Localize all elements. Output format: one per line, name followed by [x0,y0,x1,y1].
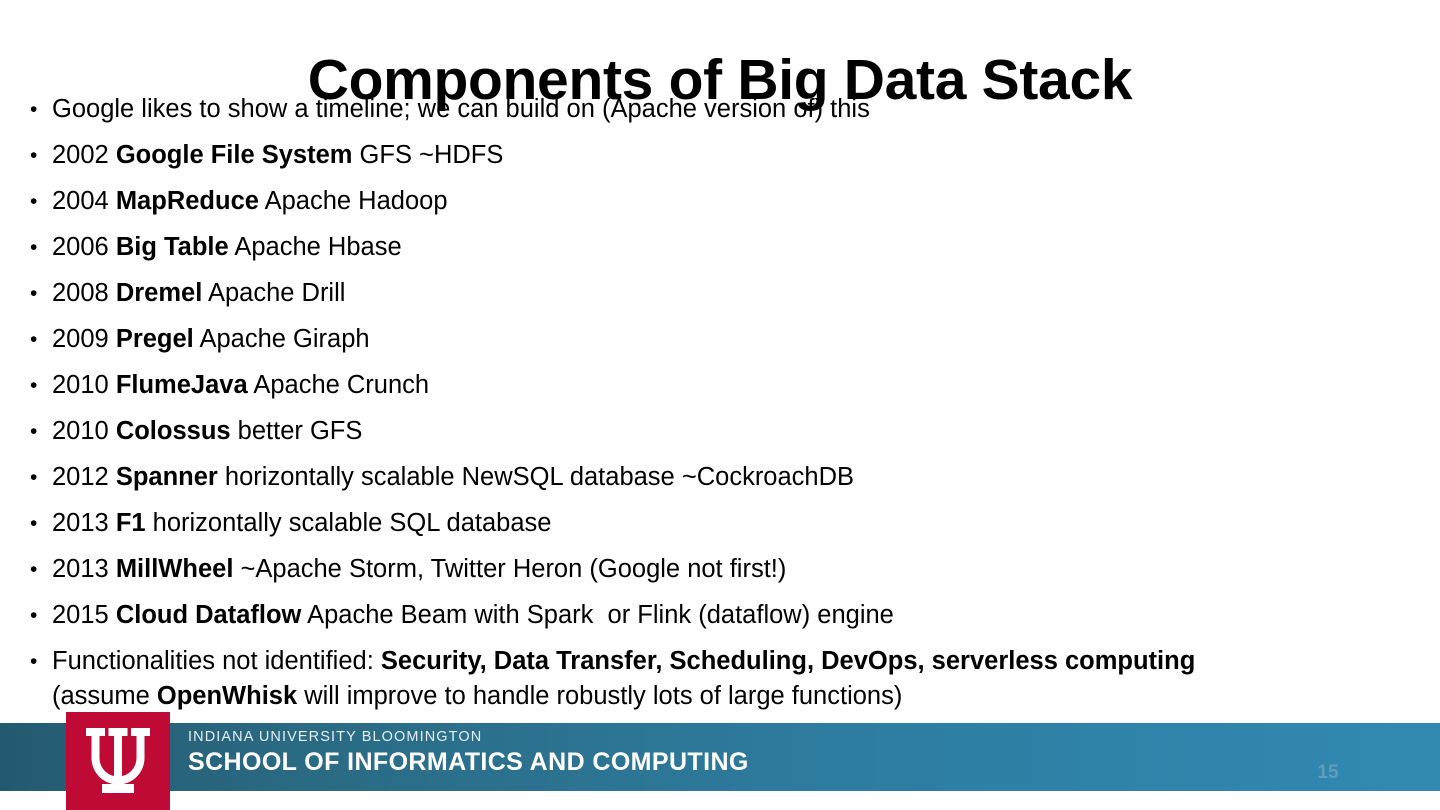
slide-canvas: Components of Big Data Stack Google like… [0,0,1440,810]
list-item: 2013 MillWheel ~Apache Storm, Twitter He… [26,552,1422,587]
bullet-text: Apache Crunch [248,371,429,399]
bullet-text: GFS ~HDFS [352,141,503,169]
list-item: 2004 MapReduce Apache Hadoop [26,184,1422,219]
bullet-text: 2013 [52,555,116,583]
bullet-text: 2009 [52,325,116,353]
bullet-emphasis: F1 [116,509,146,537]
footer-branding: INDIANA UNIVERSITY BLOOMINGTON SCHOOL OF… [188,728,1088,778]
bullet-emphasis: OpenWhisk [157,682,297,710]
list-item: 2013 F1 horizontally scalable SQL databa… [26,506,1422,541]
list-item: 2012 Spanner horizontally scalable NewSQ… [26,460,1422,495]
bullet-emphasis: Security, Data Transfer, Scheduling, Dev… [381,647,1195,675]
list-item: 2010 Colossus better GFS [26,414,1422,449]
bullet-emphasis: Google File System [116,141,353,169]
list-item: 2009 Pregel Apache Giraph [26,322,1422,357]
bullet-emphasis: MillWheel [116,555,234,583]
bullet-text: Functionalities not identified: [52,647,381,675]
bullet-text: (assume [52,682,157,710]
list-item: 2002 Google File System GFS ~HDFS [26,138,1422,173]
footer-university-name: INDIANA UNIVERSITY BLOOMINGTON [188,728,1088,747]
bullet-text: 2002 [52,141,116,169]
bullet-emphasis: Colossus [116,417,231,445]
list-item: 2015 Cloud Dataflow Apache Beam with Spa… [26,598,1422,633]
bullet-text: Apache Hbase [229,233,402,261]
bullet-text: 2012 [52,463,116,491]
bullet-text: horizontally scalable NewSQL database ~C… [218,463,854,491]
bullet-emphasis: Big Table [116,233,229,261]
bullet-text: 2013 [52,509,116,537]
footer-school-name: SCHOOL OF INFORMATICS AND COMPUTING [188,747,1088,778]
bullet-text: 2008 [52,279,116,307]
bullet-emphasis: Pregel [116,325,194,353]
bullet-list: Google likes to show a timeline; we can … [26,92,1422,714]
bullet-text: better GFS [231,417,363,445]
bullet-text: 2010 [52,417,116,445]
bullet-text: 2006 [52,233,116,261]
list-item: 2010 FlumeJava Apache Crunch [26,368,1422,403]
bullet-text: Apache Hadoop [259,187,448,215]
bullet-emphasis: Cloud Dataflow [116,601,302,629]
bullet-text: Apache Giraph [194,325,370,353]
bullet-text: Google likes to show a timeline; we can … [52,95,870,123]
bullet-text: 2004 [52,187,116,215]
bullet-text: 2015 [52,601,116,629]
list-item: 2008 Dremel Apache Drill [26,276,1422,311]
bullet-text: will improve to handle robustly lots of … [297,682,902,710]
bullet-emphasis: MapReduce [116,187,259,215]
bullet-emphasis: Dremel [116,279,202,307]
bullet-text: ~Apache Storm, Twitter Heron (Google not… [233,555,786,583]
bullet-emphasis: FlumeJava [116,371,248,399]
bullet-emphasis: Spanner [116,463,218,491]
bullet-text: horizontally scalable SQL database [146,509,552,537]
list-item: Google likes to show a timeline; we can … [26,92,1422,127]
bullet-text: Apache Drill [202,279,345,307]
list-item: Functionalities not identified: Security… [26,644,1422,714]
bullet-text: 2010 [52,371,116,399]
page-number: 15 [1303,762,1353,784]
bullet-text: Apache Beam with Spark or Flink (dataflo… [301,601,893,629]
iu-logo-block [66,712,170,810]
list-item: 2006 Big Table Apache Hbase [26,230,1422,265]
